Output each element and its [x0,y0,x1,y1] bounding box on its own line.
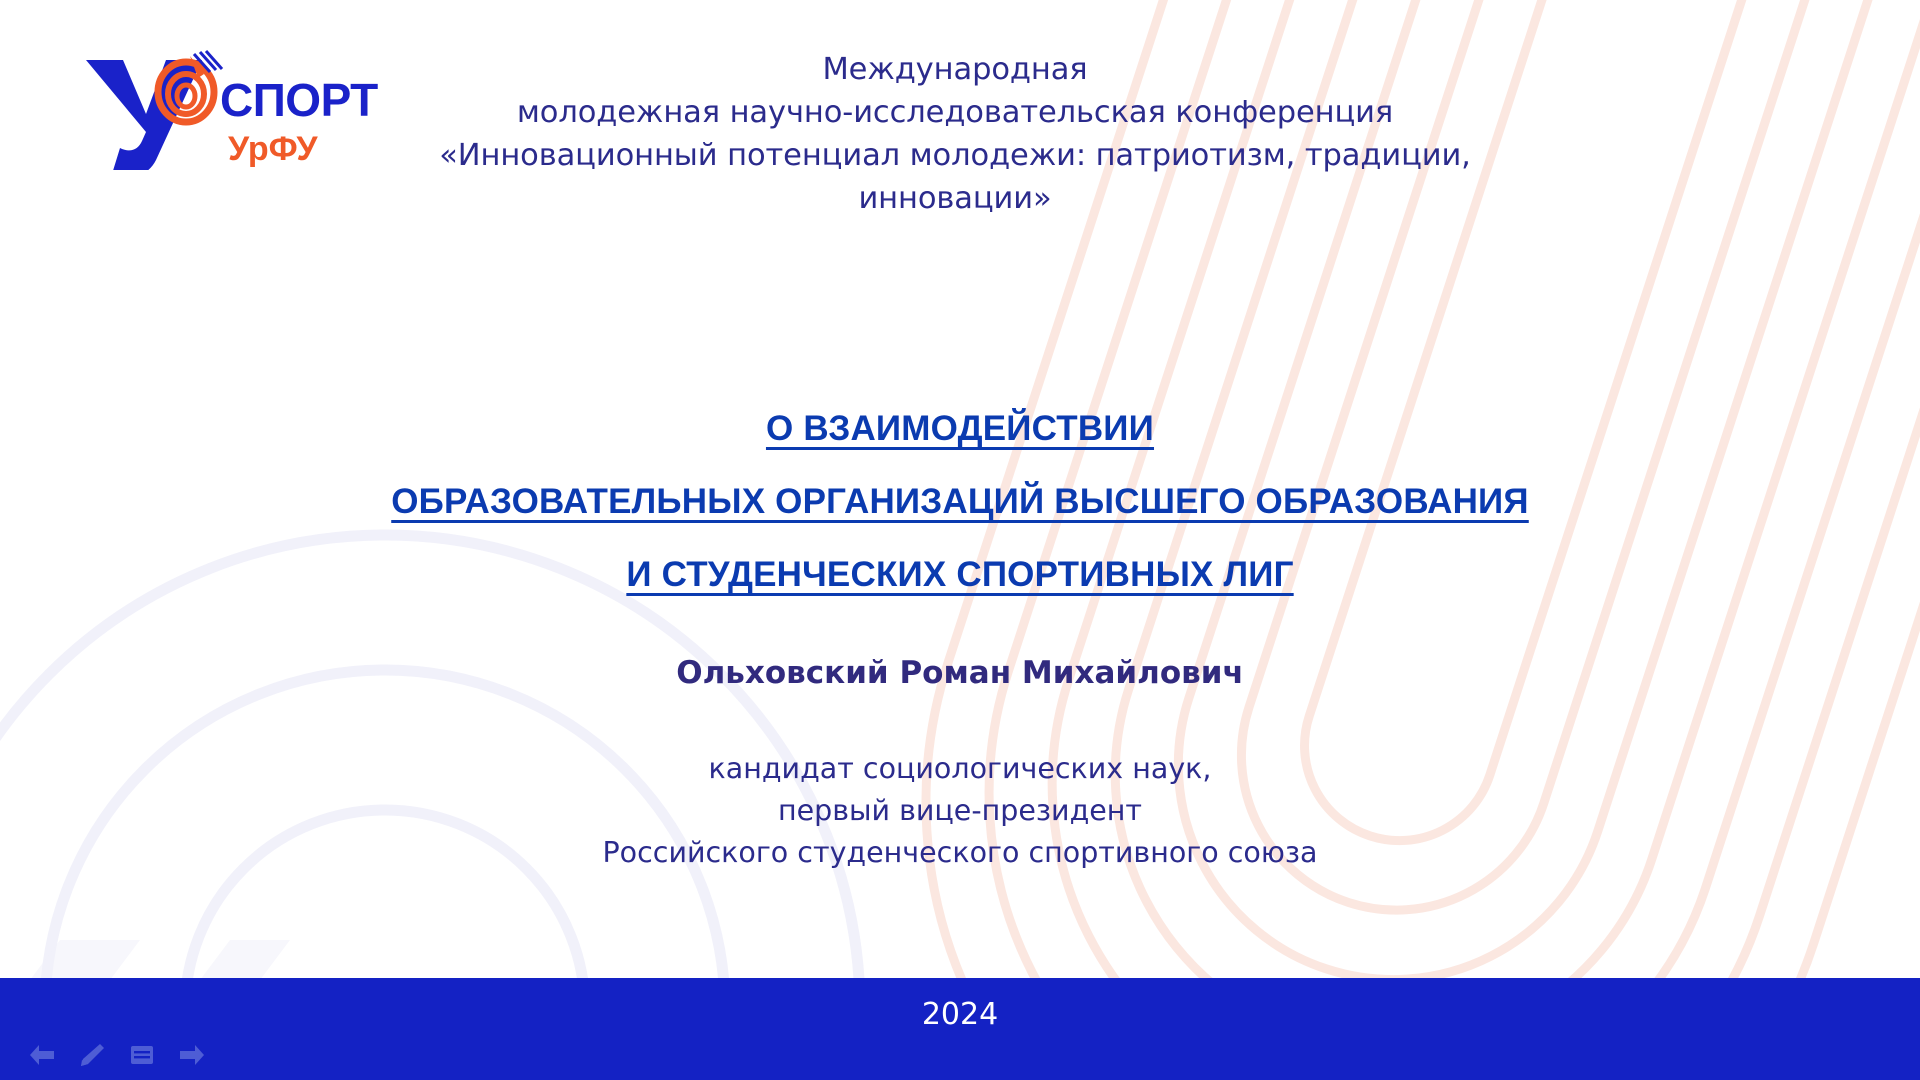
author-role: кандидат социологических наук, первый ви… [0,748,1920,874]
conference-header-line-1: Международная [360,48,1550,91]
conference-header-line-3: «Инновационный потенциал молодежи: патри… [360,134,1550,177]
title-line-3: И СТУДЕНЧЕСКИХ СПОРТИВНЫХ ЛИГ [0,538,1920,611]
author-role-line-1: кандидат социологических наук, [0,748,1920,790]
page-title: О ВЗАИМОДЕЙСТВИИ ОБРАЗОВАТЕЛЬНЫХ ОРГАНИЗ… [0,392,1920,611]
footer-bar: 2024 [0,978,1920,1080]
logo-word-urfu: УрФУ [228,130,318,168]
title-line-2: ОБРАЗОВАТЕЛЬНЫХ ОРГАНИЗАЦИЙ ВЫСШЕГО ОБРА… [0,465,1920,538]
title-line-1: О ВЗАИМОДЕЙСТВИИ [0,392,1920,465]
author-name: Ольховский Роман Михайлович [0,652,1920,694]
previous-slide-icon[interactable] [28,1042,56,1068]
conference-header: Международная молодежная научно-исследов… [360,48,1550,220]
author-role-line-3: Российского студенческого спортивного со… [0,832,1920,874]
slideshow-controls [28,1042,206,1068]
logo-word-sport: СПОРТ [220,74,378,126]
title-line-3-text: И СТУДЕНЧЕСКИХ СПОРТИВНЫХ ЛИГ [626,555,1293,594]
conference-header-line-2: молодежная научно-исследовательская конф… [360,91,1550,134]
author-role-line-2: первый вице-президент [0,790,1920,832]
title-line-2-text: ОБРАЗОВАТЕЛЬНЫХ ОРГАНИЗАЦИЙ ВЫСШЕГО ОБРА… [391,482,1529,521]
menu-icon[interactable] [128,1042,156,1068]
next-slide-icon[interactable] [178,1042,206,1068]
footer-year: 2024 [0,997,1920,1033]
pen-annotate-icon[interactable] [78,1042,106,1068]
conference-header-line-4: инновации» [360,177,1550,220]
presentation-slide: СПОРТ УрФУ Международная молодежная науч… [0,0,1920,1080]
usport-urfu-logo: СПОРТ УрФУ [78,42,378,170]
title-line-1-text: О ВЗАИМОДЕЙСТВИИ [766,409,1154,448]
